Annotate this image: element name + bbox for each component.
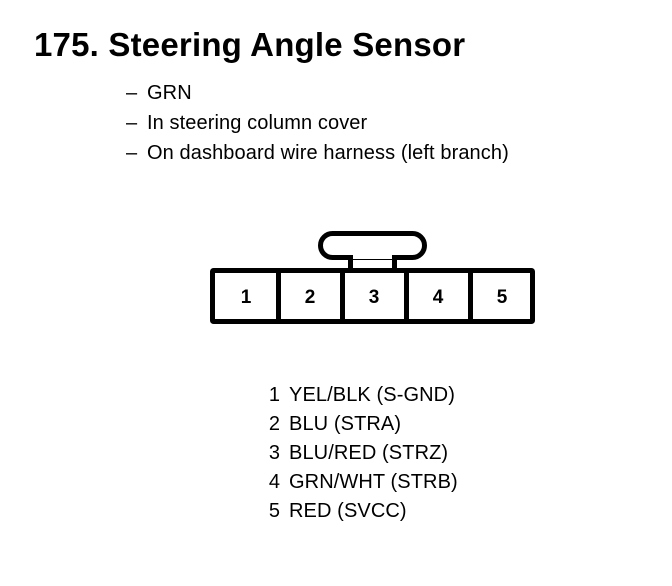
legend-pin-number: 1 — [258, 382, 280, 408]
legend-pin-number: 4 — [258, 469, 280, 495]
list-item: 4 GRN/WHT (STRB) — [258, 469, 458, 498]
pin-legend: 1 YEL/BLK (S-GND) 2 BLU (STRA) 3 BLU/RED… — [258, 382, 458, 527]
legend-pin-label: GRN/WHT (STRB) — [289, 469, 458, 495]
connector-pin-1: 1 — [241, 287, 252, 308]
legend-pin-number: 3 — [258, 440, 280, 466]
list-item: 3 BLU/RED (STRZ) — [258, 440, 458, 469]
connector-pin-2: 2 — [305, 287, 316, 308]
dash-bullet-icon: – — [126, 79, 147, 107]
connector-pin-4: 4 — [433, 287, 444, 308]
list-item-label: GRN — [147, 79, 192, 107]
list-item: 1 YEL/BLK (S-GND) — [258, 382, 458, 411]
list-item-label: On dashboard wire harness (left branch) — [147, 139, 509, 167]
legend-pin-number: 2 — [258, 411, 280, 437]
dash-bullet-icon: – — [126, 139, 147, 167]
list-item: 2 BLU (STRA) — [258, 411, 458, 440]
connector-diagram: 1 2 3 4 5 — [200, 222, 545, 332]
legend-pin-number: 5 — [258, 498, 280, 524]
list-item: 5 RED (SVCC) — [258, 498, 458, 527]
list-item: – GRN — [126, 79, 646, 109]
list-item: – In steering column cover — [126, 109, 646, 139]
dash-bullet-icon: – — [126, 109, 147, 137]
list-item-label: In steering column cover — [147, 109, 367, 137]
list-item: – On dashboard wire harness (left branch… — [126, 139, 646, 169]
legend-pin-label: BLU/RED (STRZ) — [289, 440, 448, 466]
notes-list: – GRN – In steering column cover – On da… — [126, 79, 646, 169]
connector-pin-5: 5 — [497, 287, 508, 308]
legend-pin-label: YEL/BLK (S-GND) — [289, 382, 455, 408]
legend-pin-label: RED (SVCC) — [289, 498, 407, 524]
connector-svg: 1 2 3 4 5 — [200, 222, 545, 332]
page-title: 175. Steering Angle Sensor — [34, 27, 465, 63]
connector-locking-tab-icon — [321, 234, 425, 272]
connector-pin-3: 3 — [369, 287, 380, 308]
legend-pin-label: BLU (STRA) — [289, 411, 401, 437]
